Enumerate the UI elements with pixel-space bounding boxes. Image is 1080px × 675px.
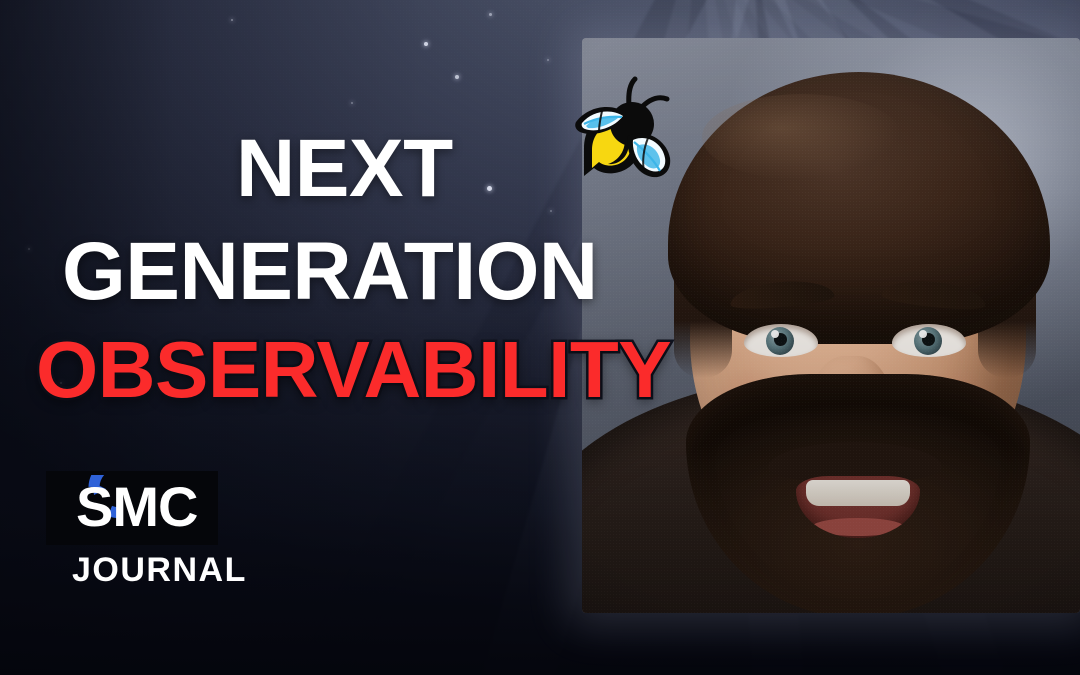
headline-line-2: GENERATION	[62, 231, 598, 313]
smc-journal-logo[interactable]: SMC JOURNAL	[46, 471, 222, 587]
logo-mark-text: SMC	[76, 479, 197, 535]
thumbnail-canvas: NEXT GENERATION OBSERVABILITY SMC JOURNA…	[0, 0, 1080, 675]
headline-line-3: OBSERVABILITY	[36, 330, 671, 410]
logo-wordmark-text: JOURNAL	[46, 553, 222, 587]
logo-mark-box: SMC	[46, 471, 218, 545]
headline-line-1: NEXT	[236, 128, 453, 210]
honeycomb-bee-icon	[566, 76, 682, 188]
